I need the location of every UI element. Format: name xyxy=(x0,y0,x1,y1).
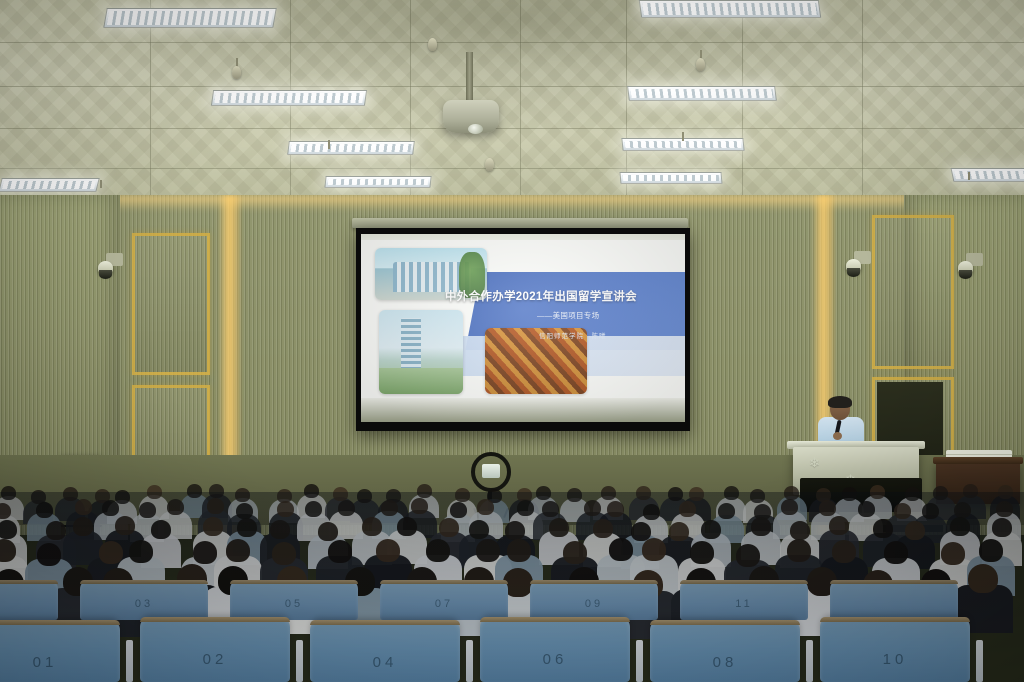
ceiling-lamp xyxy=(619,172,722,184)
audience-head xyxy=(669,522,689,541)
audience-head xyxy=(642,538,666,561)
audience-head xyxy=(277,501,294,517)
seat-number: 08 xyxy=(650,654,800,671)
seat-divider xyxy=(976,640,983,682)
seat[interactable]: 10 xyxy=(820,617,970,682)
seat-number: 06 xyxy=(480,651,630,668)
ceiling-lamp xyxy=(287,141,415,155)
audience-head xyxy=(357,489,372,503)
audience-head xyxy=(270,520,290,539)
audience-head xyxy=(397,517,417,536)
audience-head xyxy=(187,484,202,498)
audience-head xyxy=(787,539,811,562)
seat[interactable]: 01 xyxy=(0,620,120,682)
audience-head xyxy=(63,487,78,501)
lecture-hall-photo: 中外合作办学2021年出国留学宣讲会 ——美国项目专场 信阳师范学院 陈曦 ❄ … xyxy=(0,0,1024,682)
audience-head xyxy=(73,517,93,536)
audience-head xyxy=(193,541,217,564)
ceiling-lamp xyxy=(639,0,822,18)
audience-head xyxy=(426,539,450,562)
audience-head xyxy=(884,541,908,564)
ceiling-fixture-stub xyxy=(100,180,102,188)
projector-mount-pole xyxy=(466,52,473,104)
audience-head xyxy=(636,486,651,500)
right-stage-door[interactable] xyxy=(872,215,954,369)
ceiling-lamp xyxy=(627,86,777,101)
presentation-slide: 中外合作办学2021年出国留学宣讲会 ——美国项目专场 信阳师范学院 陈曦 xyxy=(361,240,685,398)
audience-head xyxy=(784,486,799,500)
ceiling-smoke-detector xyxy=(696,58,705,71)
audience-head xyxy=(689,487,704,501)
slide-subtitle: ——美国项目专场 xyxy=(537,310,685,321)
ceiling-shadow xyxy=(0,0,1024,205)
audience-head xyxy=(996,501,1013,517)
audience-head xyxy=(858,501,875,517)
audience-head xyxy=(905,521,925,540)
audience-head xyxy=(870,485,885,499)
audience-head xyxy=(439,518,459,537)
slide-title: 中外合作办学2021年出国留学宣讲会 xyxy=(445,288,685,304)
audience-head xyxy=(75,499,92,515)
audience-head xyxy=(790,521,810,540)
audience-head xyxy=(950,517,970,536)
slide-byline: 信阳师范学院 陈曦 xyxy=(539,330,685,340)
audience-head xyxy=(129,540,153,563)
audience-head xyxy=(751,517,771,536)
audience-head xyxy=(517,500,534,516)
audience-head xyxy=(235,488,250,502)
audience-head xyxy=(455,488,470,502)
audience-head xyxy=(979,539,1003,562)
audience-head xyxy=(381,500,398,516)
ceiling-smoke-detector xyxy=(428,38,437,51)
seat-divider xyxy=(296,640,303,682)
audience-head xyxy=(567,488,582,502)
left-exit-door[interactable] xyxy=(132,233,210,375)
audience-head xyxy=(450,502,467,518)
tower-building-photo xyxy=(379,310,463,394)
audience-head xyxy=(469,520,489,539)
ceiling-lamp xyxy=(211,90,367,106)
seat[interactable]: 08 xyxy=(650,620,800,682)
audience-head xyxy=(476,539,500,562)
audience-head xyxy=(147,485,162,499)
seat-number: 04 xyxy=(310,654,460,671)
cove-light-top xyxy=(0,195,1024,211)
snowflake-emblem-icon: ❄ xyxy=(809,456,820,469)
audience-head xyxy=(963,484,978,498)
audience-head xyxy=(549,518,569,537)
audience-head xyxy=(0,520,17,539)
audience-head xyxy=(832,540,856,563)
audience-head xyxy=(0,539,16,562)
audience-head xyxy=(668,487,683,501)
seat-rail xyxy=(140,617,290,622)
seat-number: 02 xyxy=(140,651,290,668)
seat-divider xyxy=(466,640,473,682)
audience-head xyxy=(376,539,400,562)
ceiling-fixture-stub xyxy=(328,140,330,149)
audience-head xyxy=(894,503,911,519)
audience-head xyxy=(209,484,224,498)
audience-head xyxy=(954,502,971,518)
seat[interactable]: 02 xyxy=(140,617,290,682)
projection-screen: 中外合作办学2021年出国留学宣讲会 ——美国项目专场 信阳师范学院 陈曦 xyxy=(356,228,690,431)
audience-head xyxy=(139,502,156,518)
audience-head xyxy=(690,541,714,564)
audience-head xyxy=(507,539,531,562)
phone-camera xyxy=(482,464,500,478)
audience-head xyxy=(724,486,739,500)
audience-head xyxy=(819,500,836,516)
audience-head xyxy=(167,499,184,515)
audience-head xyxy=(102,500,119,516)
audience-head xyxy=(237,518,257,537)
audience-head xyxy=(362,517,382,536)
seat-rail xyxy=(480,617,630,622)
audience-head xyxy=(781,499,798,515)
ceiling-lamp xyxy=(951,168,1024,182)
audience-head xyxy=(318,522,338,541)
seat-rail xyxy=(0,620,120,625)
ceiling-fixture-stub xyxy=(682,132,684,141)
audience-head xyxy=(992,518,1012,537)
ceiling-lamp xyxy=(324,176,431,188)
audience-head xyxy=(203,517,223,536)
audience-head xyxy=(842,487,857,501)
audience-head xyxy=(607,501,624,517)
audience-head xyxy=(601,486,616,500)
seat-rail xyxy=(650,620,800,625)
audience-head xyxy=(563,541,587,564)
audience-head xyxy=(226,539,250,562)
audience-head xyxy=(477,499,494,515)
audience-head xyxy=(750,489,765,503)
screen-roller-housing xyxy=(352,218,688,228)
audience-head xyxy=(236,503,253,519)
seat[interactable]: 04 xyxy=(310,620,460,682)
ceiling xyxy=(0,0,1024,205)
audience-head xyxy=(536,486,551,500)
audience-head xyxy=(333,487,348,501)
seat-divider xyxy=(126,640,133,682)
audience-head xyxy=(115,516,135,535)
audience-head xyxy=(411,498,428,514)
front-row-chairs: 010204060810 xyxy=(0,572,1024,682)
audience-head xyxy=(36,502,53,518)
audience-head xyxy=(46,521,66,540)
seat-number: 10 xyxy=(820,651,970,668)
audience-head xyxy=(922,503,939,519)
audience-head xyxy=(151,520,171,539)
audience-head xyxy=(829,516,849,535)
audience-head xyxy=(718,503,735,519)
audience-head xyxy=(338,500,355,516)
presenter-hand xyxy=(833,432,842,440)
seat-number: 01 xyxy=(0,654,120,671)
ceiling-fixture-stub xyxy=(968,172,970,180)
seat-divider xyxy=(636,640,643,682)
ceiling-lamp xyxy=(0,178,100,192)
audience-head xyxy=(584,500,601,516)
audience-head xyxy=(542,501,559,517)
ceiling-smoke-detector xyxy=(485,158,494,171)
seat-rail xyxy=(820,617,970,622)
audience-head xyxy=(679,501,696,517)
audience-head xyxy=(593,519,613,538)
ceiling-lamp xyxy=(103,8,277,28)
seat-divider xyxy=(806,640,813,682)
presenter-hair xyxy=(828,396,852,408)
audience-head xyxy=(933,486,948,500)
audience-head xyxy=(417,484,432,498)
audience-head xyxy=(701,520,721,539)
seat-rail xyxy=(310,620,460,625)
audience-head xyxy=(631,522,651,541)
audience-head xyxy=(505,521,525,540)
audience-head xyxy=(207,498,224,514)
audience-head xyxy=(905,487,920,501)
audience-head xyxy=(305,501,322,517)
audience-head xyxy=(1,486,16,500)
audience-head xyxy=(609,538,633,561)
seat[interactable]: 06 xyxy=(480,617,630,682)
audience-head xyxy=(643,504,660,520)
audience-head xyxy=(328,540,352,563)
audience-head xyxy=(873,519,893,538)
audience-head xyxy=(998,485,1013,499)
screen-surface: 中外合作办学2021年出国留学宣讲会 ——美国项目专场 信阳师范学院 陈曦 xyxy=(361,234,685,422)
ceiling-smoke-detector xyxy=(232,66,241,79)
projector-lens xyxy=(468,124,483,134)
